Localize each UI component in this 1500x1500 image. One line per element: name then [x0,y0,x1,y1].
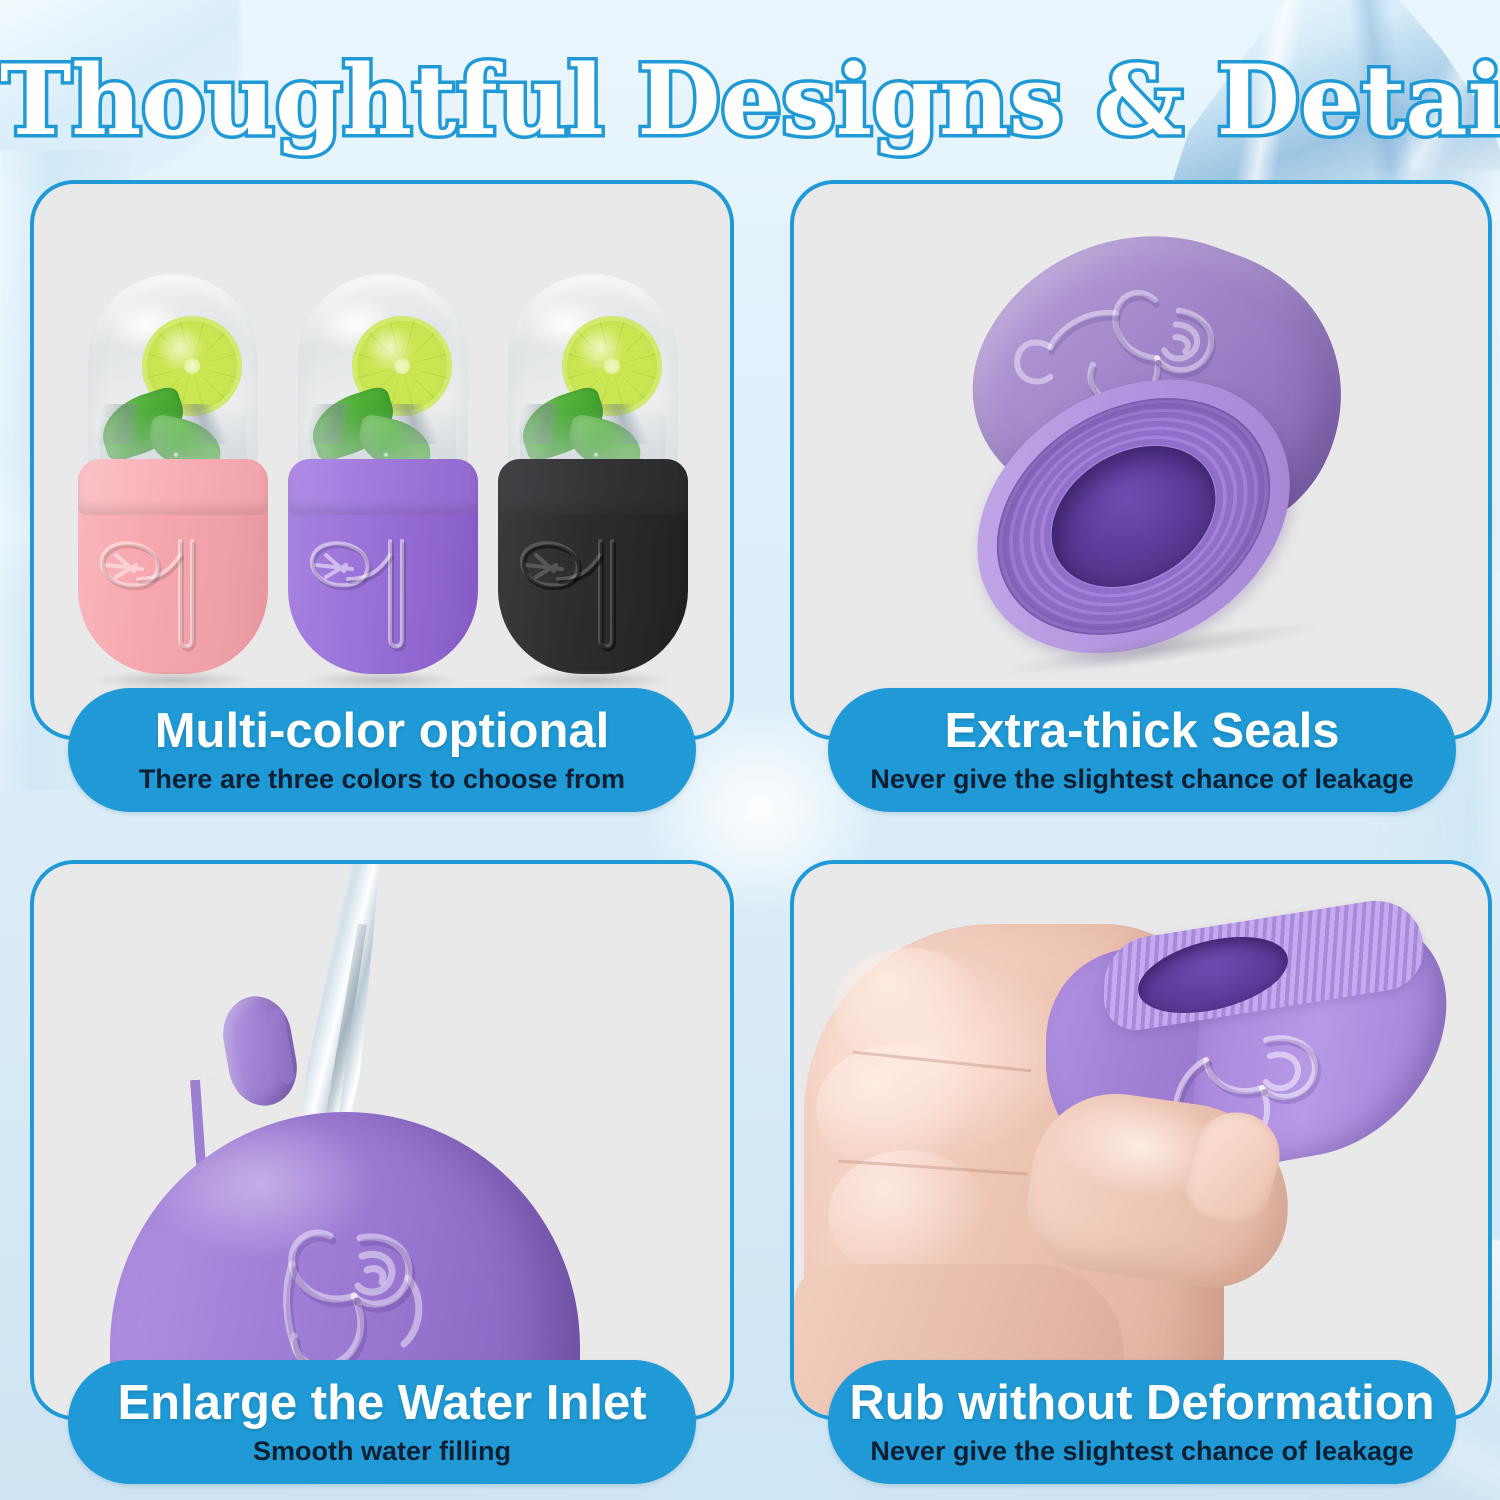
badge-title: Extra-thick Seals [945,704,1340,758]
seal-cup-illustration [896,211,1395,669]
infographic-stage: Thoughtful Designs & Details [0,0,1500,1500]
silicone-cup [78,459,268,674]
cup-collar [288,459,478,515]
leaf-emboss-icon [92,521,252,661]
badge-subtitle: Never give the slightest chance of leaka… [870,762,1413,796]
silicone-cup [498,459,688,674]
badge-subtitle: Smooth water filling [253,1434,511,1468]
product-shadow [512,670,674,690]
badge-rub-without-deformation: Rub without Deformation Never give the s… [828,1360,1456,1484]
hand-squeeze-illustration [794,864,1488,1416]
product-roller-purple [288,274,478,674]
badge-water-inlet: Enlarge the Water Inlet Smooth water fil… [68,1360,696,1484]
page-title-text: Thoughtful Designs & Details [0,42,1500,160]
page-title: Thoughtful Designs & Details [0,42,1500,162]
cup-collar [498,459,688,515]
badge-multi-color: Multi-color optional There are three col… [68,688,696,812]
product-shadow [92,670,254,690]
badge-title: Rub without Deformation [849,1376,1434,1430]
panel-water-inlet [30,860,734,1420]
leaf-emboss-icon [302,521,462,661]
leaf-emboss-icon [512,521,672,661]
panel-extra-thick-seals [790,180,1492,740]
badge-subtitle: Never give the slightest chance of leaka… [870,1434,1413,1468]
badge-extra-thick-seals: Extra-thick Seals Never give the slighte… [828,688,1456,812]
badge-title: Enlarge the Water Inlet [117,1376,646,1430]
product-shadow [302,670,464,690]
silicone-cup [288,459,478,674]
product-roller-pink [78,274,268,674]
badge-subtitle: There are three colors to choose from [139,762,625,796]
panel-multi-color [30,180,734,740]
cup-collar [78,459,268,515]
panel-rub-without-deformation [790,860,1492,1420]
cup-interior [1026,418,1241,616]
water-inlet-illustration [74,864,694,1416]
badge-title: Multi-color optional [155,704,610,758]
product-roller-black [498,274,688,674]
